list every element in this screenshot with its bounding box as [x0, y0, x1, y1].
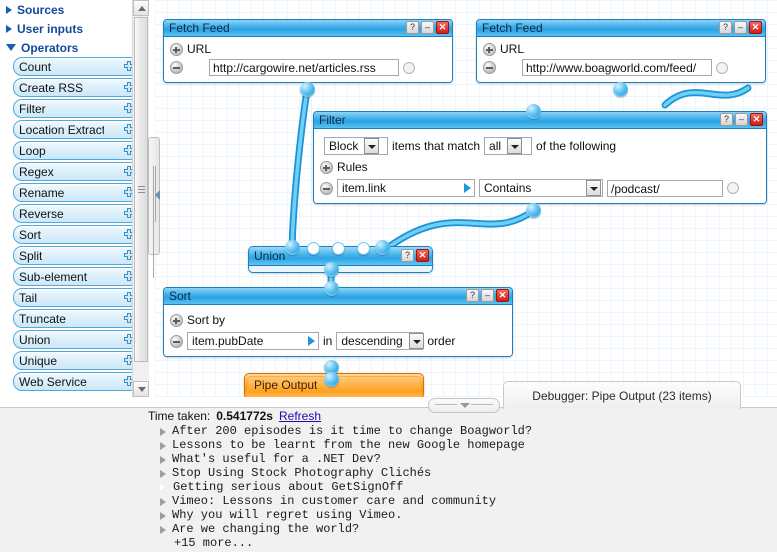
sort-rule-row: item.pubDate in descending order	[170, 332, 506, 350]
triangle-right-icon[interactable]	[160, 526, 166, 534]
filter-condition-row: Block items that match all of the follow…	[324, 137, 760, 155]
operator-item-truncate[interactable]: Truncate	[13, 309, 140, 328]
debugger-item-title: Why you will regret using Vimeo.	[172, 508, 402, 522]
module-titlebar[interactable]: Fetch Feed ? – ✕	[164, 20, 452, 37]
union-input-terminal-2[interactable]	[307, 242, 320, 255]
sidebar-category-label: Sources	[17, 3, 64, 17]
operator-label: Filter	[19, 102, 46, 116]
module-title: Sort	[164, 289, 191, 303]
divider	[435, 404, 457, 405]
output-terminal-union[interactable]	[324, 262, 339, 277]
module-titlebar[interactable]: Fetch Feed ? – ✕	[477, 20, 765, 37]
help-button[interactable]: ?	[719, 21, 732, 34]
output-terminal-feed-2[interactable]	[613, 82, 628, 97]
remove-url-icon[interactable]	[170, 61, 183, 74]
canvas-splitter-handle[interactable]	[148, 137, 160, 255]
chevron-down-icon	[507, 138, 522, 154]
rule-operator-value: Contains	[480, 181, 535, 195]
url-row: http://cargowire.net/articles.rss	[170, 59, 446, 76]
chevron-down-icon	[586, 180, 601, 196]
window-controls: ? ✕	[401, 249, 429, 262]
collapse-left-arrow-icon	[155, 190, 160, 200]
close-button[interactable]: ✕	[749, 21, 762, 34]
operator-label: Sort	[19, 228, 41, 242]
operator-label: Reverse	[19, 207, 64, 221]
output-terminal-feed-1[interactable]	[300, 82, 315, 97]
operator-item-unique[interactable]: Unique	[13, 351, 140, 370]
operator-item-count[interactable]: Count	[13, 57, 140, 76]
operator-item-split[interactable]: Split	[13, 246, 140, 265]
output-terminal-filter[interactable]	[526, 203, 541, 218]
chevron-down-icon	[460, 403, 470, 408]
module-body: Sort by item.pubDate in descending	[164, 305, 512, 356]
add-rule-icon[interactable]	[320, 161, 333, 174]
rule-row: item.link Contains /podcast/	[320, 179, 760, 197]
sort-field-picker[interactable]: item.pubDate	[187, 332, 319, 350]
time-taken-label: Time taken:	[148, 409, 210, 423]
url-row: http://www.boagworld.com/feed/	[483, 59, 759, 76]
module-body: Block items that match all of the follow…	[314, 129, 766, 203]
chevron-right-icon	[308, 336, 315, 346]
operator-label: Split	[19, 249, 42, 263]
operator-label: Union	[19, 333, 50, 347]
operator-item-filter[interactable]: Filter	[13, 99, 140, 118]
operator-item-web-service[interactable]: Web Service	[13, 372, 140, 391]
triangle-right-icon[interactable]	[160, 498, 166, 506]
filter-match-text: items that match	[392, 139, 480, 153]
module-title: Union	[249, 249, 285, 263]
module-body: URL http://cargowire.net/articles.rss	[164, 37, 452, 82]
operator-label: Sub-element	[19, 270, 87, 284]
remove-rule-icon[interactable]	[320, 182, 333, 195]
window-controls: ? – ✕	[720, 113, 763, 126]
operator-item-tail[interactable]: Tail	[13, 288, 140, 307]
filter-following-text: of the following	[536, 139, 616, 153]
union-input-terminal-1[interactable]	[285, 240, 300, 255]
operator-list: CountCreate RSSFilterLocation ExtractorL…	[0, 57, 148, 391]
sidebar-category-user-inputs[interactable]: User inputs	[0, 19, 148, 38]
triangle-right-icon[interactable]	[160, 512, 166, 520]
debugger-item-title: Lessons to be learnt from the new Google…	[172, 438, 525, 452]
rules-label: Rules	[337, 160, 368, 174]
operator-label: Create RSS	[19, 81, 83, 95]
sort-by-group-header: Sort by	[170, 313, 506, 327]
rule-field-picker[interactable]: item.link	[337, 179, 475, 197]
sort-order-text: order	[427, 334, 455, 348]
pipes-editor: Sources User inputs Operators CountCreat…	[0, 0, 777, 551]
url-connector-dot[interactable]	[716, 62, 728, 74]
operator-item-union[interactable]: Union	[13, 330, 140, 349]
filter-mode-value: Block	[325, 139, 362, 153]
help-button[interactable]: ?	[406, 21, 419, 34]
module-fetch-feed-2[interactable]: Fetch Feed ? – ✕ URL http://	[476, 19, 766, 83]
sidebar-category-label: User inputs	[17, 22, 83, 36]
sidebar-category-operators[interactable]: Operators	[0, 38, 148, 57]
operator-item-regex[interactable]: Regex	[13, 162, 140, 181]
rule-operator-select[interactable]: Contains	[479, 179, 603, 197]
chevron-down-icon	[364, 138, 379, 154]
triangle-right-icon[interactable]	[160, 470, 166, 478]
debugger-panel: Time taken: 0.541772s Refresh After 200 …	[0, 407, 777, 552]
debugger-more-label: +15 more...	[174, 536, 253, 550]
minimize-button[interactable]: –	[735, 113, 748, 126]
operator-label: Regex	[19, 165, 54, 179]
pipe-canvas[interactable]: Fetch Feed ? – ✕ URL http://	[155, 0, 777, 397]
url-input[interactable]: http://cargowire.net/articles.rss	[209, 59, 399, 76]
debugger-item-title: Vimeo: Lessons in customer care and comm…	[172, 494, 496, 508]
module-title: Filter	[314, 113, 346, 127]
filter-match-value: all	[485, 139, 505, 153]
help-button[interactable]: ?	[401, 249, 414, 262]
triangle-right-icon[interactable]	[160, 442, 166, 450]
chevron-right-icon	[464, 183, 471, 193]
rule-connector-dot[interactable]	[727, 182, 739, 194]
debugger-tab-label: Debugger: Pipe Output (23 items)	[532, 389, 711, 403]
rule-value-input[interactable]: /podcast/	[607, 180, 723, 197]
time-taken-value: 0.541772s	[216, 409, 273, 423]
operator-item-location-extractor[interactable]: Location Extractor	[13, 120, 140, 139]
module-filter[interactable]: Filter ? – ✕ Block items that match	[313, 111, 767, 204]
window-controls: ? – ✕	[466, 289, 509, 302]
window-controls: ? – ✕	[719, 21, 762, 34]
operator-label: Rename	[19, 186, 64, 200]
minimize-button[interactable]: –	[734, 21, 747, 34]
operator-label: Count	[19, 60, 51, 74]
union-input-terminal-5[interactable]	[375, 240, 390, 255]
operator-item-create-rss[interactable]: Create RSS	[13, 78, 140, 97]
sort-direction-value: descending	[337, 334, 406, 348]
grip-icon	[138, 186, 145, 193]
operator-item-sub-element[interactable]: Sub-element	[13, 267, 140, 286]
sidebar-category-url[interactable]: Url	[0, 393, 148, 397]
triangle-right-icon[interactable]	[160, 428, 166, 436]
debugger-left-fill	[0, 408, 145, 552]
sidebar-category-label: Url	[17, 396, 34, 398]
union-input-terminal-4[interactable]	[357, 242, 370, 255]
operator-item-rename[interactable]: Rename	[13, 183, 140, 202]
operator-label: Location Extractor	[19, 123, 104, 137]
remove-sort-icon[interactable]	[170, 335, 183, 348]
scroll-down-arrow-icon[interactable]	[133, 381, 149, 397]
url-connector-dot[interactable]	[403, 62, 415, 74]
close-button[interactable]: ✕	[416, 249, 429, 262]
add-url-icon[interactable]	[170, 43, 183, 56]
chevron-down-icon	[409, 333, 424, 349]
module-title: Fetch Feed	[477, 21, 543, 35]
sort-direction-select[interactable]: descending	[336, 332, 423, 350]
refresh-link[interactable]: Refresh	[279, 409, 321, 423]
chevron-right-icon	[6, 25, 12, 33]
divider	[471, 404, 493, 405]
window-controls: ? – ✕	[406, 21, 449, 34]
module-library-sidebar: Sources User inputs Operators CountCreat…	[0, 0, 148, 397]
debugger-item-title: What's useful for a .NET Dev?	[172, 452, 381, 466]
input-terminal-pipe-output[interactable]	[324, 372, 339, 387]
sidebar-category-label: Operators	[21, 41, 78, 55]
debugger-item-title: Stop Using Stock Photography Clichés	[172, 466, 431, 480]
scroll-up-arrow-icon[interactable]	[133, 0, 149, 16]
minimize-button[interactable]: –	[481, 289, 494, 302]
operator-label: Tail	[19, 291, 37, 305]
sort-field-value: item.pubDate	[192, 334, 263, 348]
debugger-item-title: Getting serious about GetSignOff	[173, 480, 403, 494]
rule-field-value: item.link	[342, 181, 386, 195]
help-button[interactable]: ?	[466, 289, 479, 302]
operator-label: Unique	[19, 354, 57, 368]
union-input-terminal-3[interactable]	[332, 242, 345, 255]
debugger-item-title: Are we changing the world?	[172, 522, 359, 536]
filter-match-select[interactable]: all	[484, 137, 532, 155]
add-sort-icon[interactable]	[170, 314, 183, 327]
scrollbar-thumb[interactable]	[134, 17, 148, 362]
input-terminal-filter[interactable]	[526, 104, 541, 119]
chevron-down-icon	[6, 44, 16, 51]
url-label: URL	[500, 42, 524, 56]
close-button[interactable]: ✕	[750, 113, 763, 126]
sidebar-scrollbar[interactable]	[132, 0, 149, 397]
operator-label: Web Service	[19, 375, 87, 389]
module-fetch-feed-1[interactable]: Fetch Feed ? – ✕ URL http://	[163, 19, 453, 83]
operator-item-sort[interactable]: Sort	[13, 225, 140, 244]
close-button[interactable]: ✕	[436, 21, 449, 34]
url-input[interactable]: http://www.boagworld.com/feed/	[522, 59, 712, 76]
remove-url-icon[interactable]	[483, 61, 496, 74]
sort-by-label: Sort by	[187, 313, 225, 327]
module-body: URL http://www.boagworld.com/feed/	[477, 37, 765, 82]
sidebar-category-sources[interactable]: Sources	[0, 0, 148, 19]
url-group-header: URL	[483, 42, 759, 56]
url-group-header: URL	[170, 42, 446, 56]
triangle-right-outline-icon[interactable]	[160, 483, 167, 492]
sort-in-text: in	[323, 334, 332, 348]
chevron-right-icon	[6, 6, 12, 14]
operator-label: Loop	[19, 144, 46, 158]
input-terminal-sort[interactable]	[324, 281, 339, 296]
module-title: Fetch Feed	[164, 21, 230, 35]
operator-item-loop[interactable]: Loop	[13, 141, 140, 160]
close-button[interactable]: ✕	[496, 289, 509, 302]
operator-item-reverse[interactable]: Reverse	[13, 204, 140, 223]
triangle-right-icon[interactable]	[160, 456, 166, 464]
module-sort[interactable]: Sort ? – ✕ Sort by item.pu	[163, 287, 513, 357]
operator-label: Truncate	[19, 312, 66, 326]
rules-group-header: Rules	[320, 160, 760, 174]
help-button[interactable]: ?	[720, 113, 733, 126]
pipe-output-title: Pipe Output	[254, 378, 317, 392]
tab-debugger[interactable]: Debugger: Pipe Output (23 items)	[503, 381, 741, 409]
debugger-item-title: After 200 episodes is it time to change …	[172, 424, 532, 438]
minimize-button[interactable]: –	[421, 21, 434, 34]
url-label: URL	[187, 42, 211, 56]
debugger-collapse-toggle[interactable]	[428, 398, 500, 413]
filter-mode-select[interactable]: Block	[324, 137, 388, 155]
add-url-icon[interactable]	[483, 43, 496, 56]
module-footer	[249, 266, 432, 272]
